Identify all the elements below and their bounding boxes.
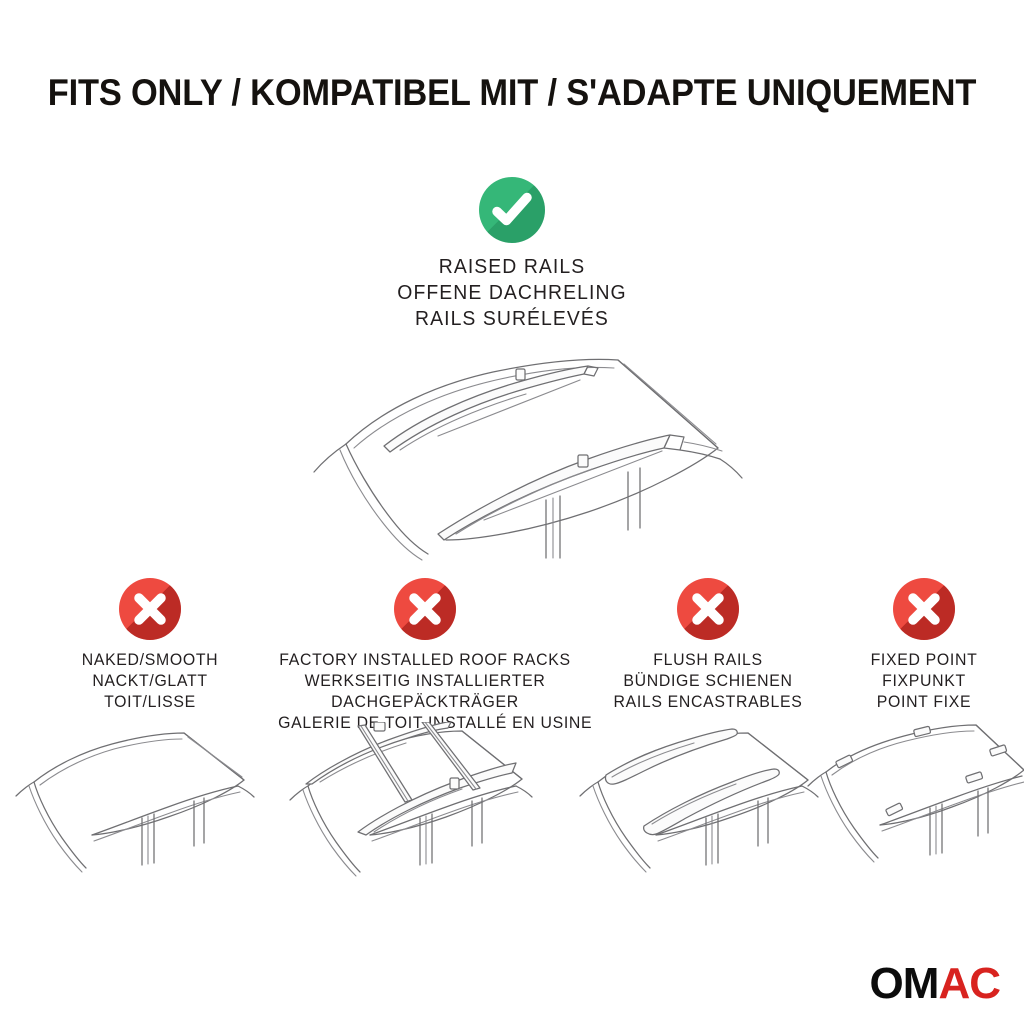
cross-circle-icon [893,578,955,640]
caption-line-de: FIXPUNKT [836,671,1013,692]
illustration-row [0,722,1024,902]
caption-line-de: BÜNDIGE SCHIENEN [595,671,822,692]
illustration-raised-rails [288,352,748,562]
caption-line-fr: RAILS SURÉLEVÉS [15,306,1008,332]
caption-line-fr: POINT FIXE [836,692,1013,713]
caption-line-de-2: DACHGEPÄCKTRÄGER [278,692,572,713]
cross-mark-glyph [394,578,456,640]
omac-logo: OMAC [870,962,1000,1006]
incompatible-item-factory-roof-racks: FACTORY INSTALLED ROOF RACKS WERKSEITIG … [272,578,578,734]
illustration-car-roof-bare [8,722,258,902]
illustration-car-roof-with-flush-rails [572,722,822,902]
cross-circle-icon [394,578,456,640]
caption-line-en: FLUSH RAILS [595,650,822,671]
caption-line-en: NAKED/SMOOTH [35,650,265,671]
caption-line-en: FACTORY INSTALLED ROOF RACKS [278,650,572,671]
cross-mark-glyph [893,578,955,640]
caption-line-fr: RAILS ENCASTRABLES [595,692,822,713]
compatible-caption: RAISED RAILS OFFENE DACHRELING RAILS SUR… [15,254,1008,332]
caption-line-en: FIXED POINT [836,650,1013,671]
incompatible-item-fixed-point: FIXED POINT FIXPUNKT POINT FIXE [832,578,1016,713]
caption-line-de: OFFENE DACHRELING [15,280,1008,306]
check-circle-icon [479,177,545,243]
compatible-block: RAISED RAILS OFFENE DACHRELING RAILS SUR… [0,177,1024,332]
incompatible-caption: NAKED/SMOOTH NACKT/GLATT TOIT/LISSE [35,650,265,713]
caption-line-fr: TOIT/LISSE [35,692,265,713]
logo-text-ac: AC [938,959,1000,1008]
cross-mark-glyph [119,578,181,640]
incompatible-columns: NAKED/SMOOTH NACKT/GLATT TOIT/LISSE FACT… [0,578,1024,728]
incompatible-caption: FLUSH RAILS BÜNDIGE SCHIENEN RAILS ENCAS… [595,650,822,713]
infographic-canvas: FITS ONLY / KOMPATIBEL MIT / S'ADAPTE UN… [0,0,1024,1024]
cross-mark-glyph [677,578,739,640]
caption-line-de: NACKT/GLATT [35,671,265,692]
caption-line-en: RAISED RAILS [15,254,1008,280]
logo-text-om: OM [870,959,939,1008]
check-mark-glyph [479,177,545,243]
cross-circle-icon [677,578,739,640]
incompatible-caption: FIXED POINT FIXPUNKT POINT FIXE [836,650,1013,713]
caption-line-de-1: WERKSEITIG INSTALLIERTER [278,671,572,692]
cross-circle-icon [119,578,181,640]
incompatible-item-naked-smooth: NAKED/SMOOTH NACKT/GLATT TOIT/LISSE [30,578,270,713]
page-title: FITS ONLY / KOMPATIBEL MIT / S'ADAPTE UN… [36,72,988,114]
incompatible-item-flush-rails: FLUSH RAILS BÜNDIGE SCHIENEN RAILS ENCAS… [590,578,826,713]
illustration-car-roof-with-factory-crossbars [272,722,542,902]
illustration-car-roof-with-fixed-points [800,722,1024,902]
